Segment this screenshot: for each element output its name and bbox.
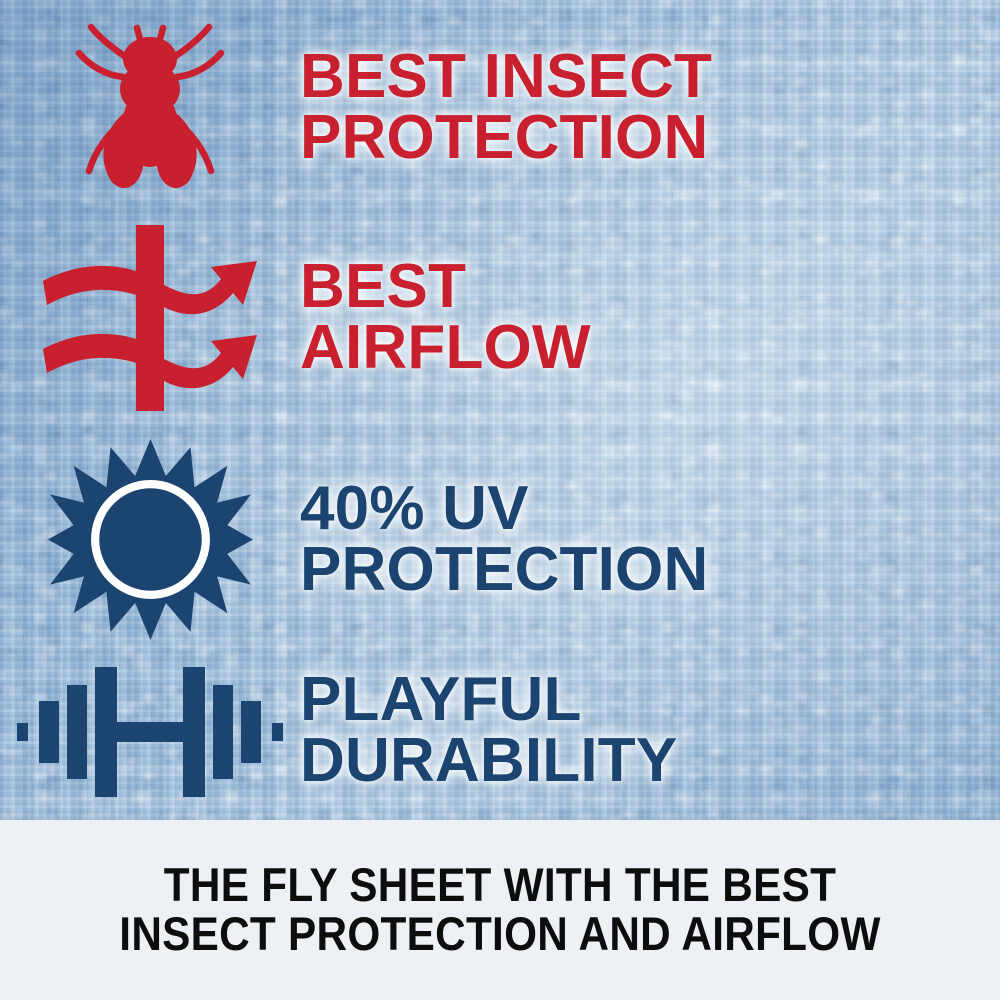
feature-icon-slot (0, 223, 300, 413)
feature-label-insect-protection: BEST INSECT PROTECTION (300, 47, 712, 167)
feature-row-durability: PLAYFUL DURABILITY (0, 648, 1000, 813)
fly-icon (55, 15, 245, 200)
feature-icon-slot (0, 15, 300, 200)
airflow-arrows-icon (35, 223, 265, 413)
feature-row-uv-protection: 40% UV PROTECTION (0, 432, 1000, 647)
dumbbell-icon (15, 661, 285, 801)
feature-row-insect-protection: BEST INSECT PROTECTION (0, 10, 1000, 205)
sun-uv-icon (48, 437, 253, 642)
product-feature-poster: BEST INSECT PROTECTION BEST AIRFLOW (0, 0, 1000, 1000)
feature-label-durability: PLAYFUL DURABILITY (300, 670, 677, 790)
feature-icon-slot (0, 437, 300, 642)
feature-list: BEST INSECT PROTECTION BEST AIRFLOW (0, 0, 1000, 820)
feature-icon-slot (0, 661, 300, 801)
feature-row-airflow: BEST AIRFLOW (0, 215, 1000, 420)
caption-text: THE FLY SHEET WITH THE BEST INSECT PROTE… (119, 861, 880, 959)
feature-label-airflow: BEST AIRFLOW (300, 257, 591, 377)
feature-label-uv-protection: 40% UV PROTECTION (300, 479, 708, 599)
caption-band: THE FLY SHEET WITH THE BEST INSECT PROTE… (0, 820, 1000, 1000)
